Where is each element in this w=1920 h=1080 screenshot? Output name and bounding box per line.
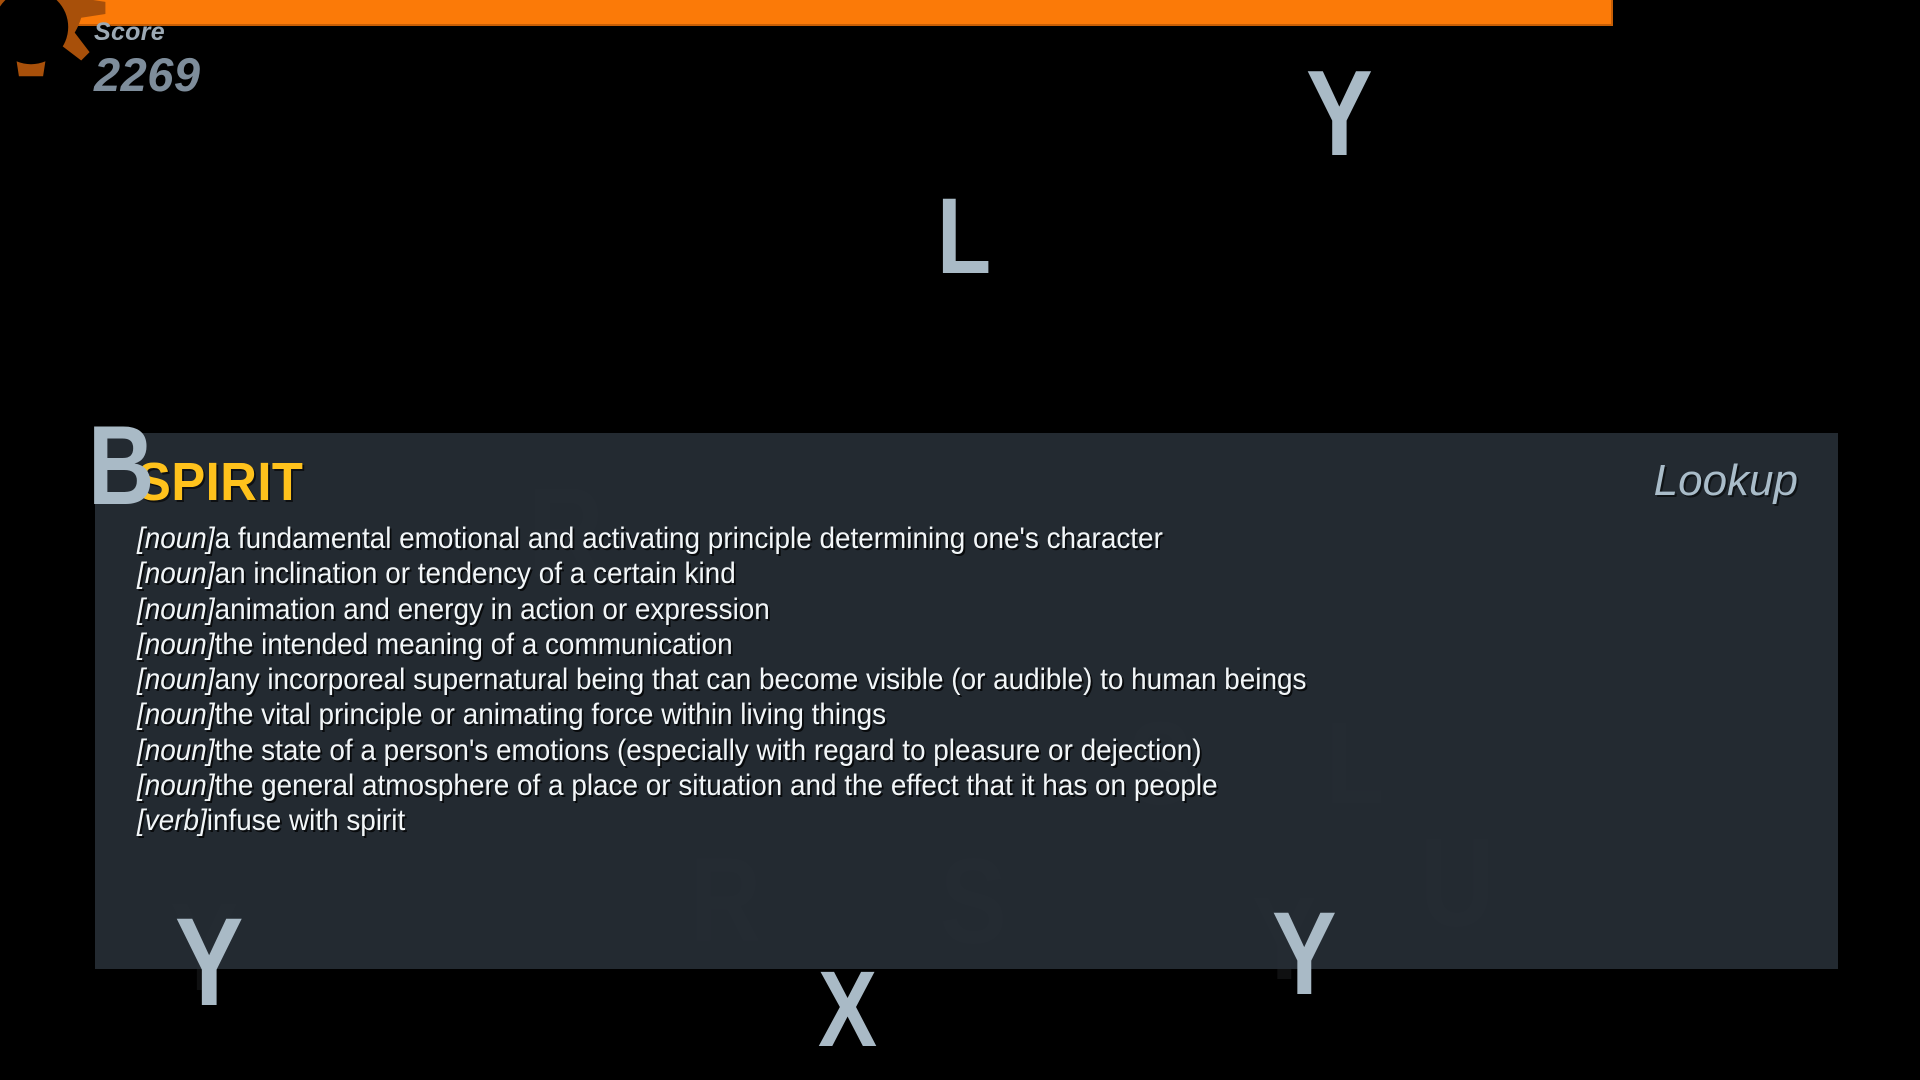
part-of-speech: [noun] <box>137 663 215 696</box>
timer-bar-fill <box>0 0 1613 26</box>
definition-line: [noun]the intended meaning of a communic… <box>137 627 1682 662</box>
definition-line: [verb]infuse with spirit <box>137 803 1682 838</box>
definition-text: animation and energy in action or expres… <box>215 593 770 626</box>
definition-text: infuse with spirit <box>207 804 405 837</box>
definition-line: [noun]animation and energy in action or … <box>137 592 1682 627</box>
part-of-speech: [noun] <box>137 734 215 767</box>
lookup-mode-label: Lookup <box>1654 459 1798 503</box>
part-of-speech: [verb] <box>137 804 207 837</box>
definition-line: [noun]the vital principle or animating f… <box>137 697 1682 732</box>
lookup-panel-header: SPIRIT Lookup <box>137 455 1798 519</box>
falling-letter[interactable]: X <box>818 955 877 1063</box>
definition-text: the state of a person's emotions (especi… <box>215 734 1202 767</box>
definition-line: [noun]any incorporeal supernatural being… <box>137 662 1682 697</box>
definition-line: [noun]an inclination or tendency of a ce… <box>137 556 1682 591</box>
part-of-speech: [noun] <box>137 769 215 802</box>
definition-text: the intended meaning of a communication <box>215 628 733 661</box>
definition-line: [noun]a fundamental emotional and activa… <box>137 521 1682 556</box>
score-value: 2269 <box>94 51 201 98</box>
definition-line: [noun]the general atmosphere of a place … <box>137 768 1682 803</box>
definition-text: an inclination or tendency of a certain … <box>215 557 736 590</box>
definition-list: [noun]a fundamental emotional and activa… <box>137 521 1798 839</box>
falling-letter[interactable]: Y <box>175 900 243 1025</box>
definition-line: [noun]the state of a person's emotions (… <box>137 733 1682 768</box>
definition-text: the general atmosphere of a place or sit… <box>215 769 1218 802</box>
part-of-speech: [noun] <box>137 557 215 590</box>
entry-word: SPIRIT <box>137 455 303 509</box>
score-label: Score <box>94 20 201 45</box>
definition-text: any incorporeal supernatural being that … <box>215 663 1307 696</box>
falling-letter[interactable]: Y <box>1272 895 1337 1013</box>
definition-text: the vital principle or animating force w… <box>215 698 886 731</box>
falling-letter[interactable]: L <box>937 182 991 290</box>
lookup-panel: SPIRIT Lookup [noun]a fundamental emotio… <box>95 433 1838 969</box>
game-screen: Score 2269 RRSSLUYY SPIRIT Lookup [noun]… <box>0 0 1920 1080</box>
score-readout: Score 2269 <box>94 20 201 98</box>
part-of-speech: [noun] <box>137 593 215 626</box>
falling-letter[interactable]: Y <box>1306 52 1373 174</box>
definition-text: a fundamental emotional and activating p… <box>215 522 1163 555</box>
part-of-speech: [noun] <box>137 628 215 661</box>
part-of-speech: [noun] <box>137 698 215 731</box>
timer-bar-track <box>0 0 1920 26</box>
falling-letter[interactable]: B <box>88 410 154 522</box>
